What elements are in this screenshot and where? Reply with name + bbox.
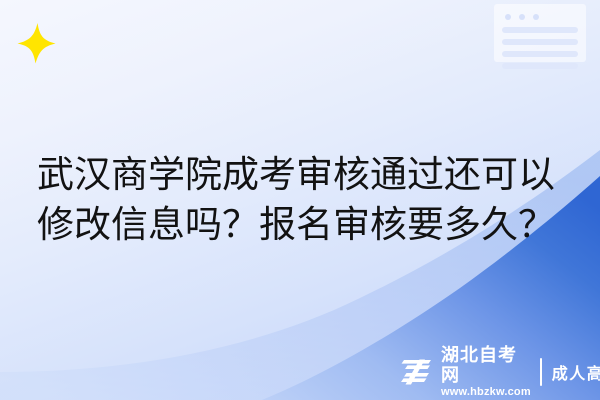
logo-site-url: www.hbzkw.com xyxy=(441,386,531,399)
doc-card-line xyxy=(502,39,578,45)
headline-line-1: 武汉商学院成考审核通过还可以 xyxy=(37,150,577,200)
page-title: 武汉商学院成考审核通过还可以 修改信息吗？报名审核要多久？ xyxy=(37,150,577,250)
doc-card-lines xyxy=(502,27,578,69)
logo-site-name: 湖北自考网 xyxy=(441,346,531,386)
headline-line-2: 修改信息吗？报名审核要多久？ xyxy=(37,200,577,250)
doc-card-line xyxy=(502,63,578,69)
promo-banner: 武汉商学院成考审核通过还可以 修改信息吗？报名审核要多久？ 湖北自考网 www.… xyxy=(0,0,600,400)
hbzkw-z-mark-icon xyxy=(400,357,434,387)
doc-card-dot xyxy=(505,14,511,20)
doc-card-line xyxy=(502,27,578,33)
doc-card-line xyxy=(502,51,578,57)
logo-category-tag: 成人高考 xyxy=(552,360,600,384)
sparkle-star-icon xyxy=(14,21,58,65)
document-card-icon xyxy=(494,4,586,62)
doc-card-dots xyxy=(505,14,539,20)
logo-divider xyxy=(540,358,542,386)
logo-text-block: 湖北自考网 www.hbzkw.com xyxy=(441,346,531,399)
doc-card-dot xyxy=(519,14,525,20)
site-logo[interactable]: 湖北自考网 www.hbzkw.com 成人高考 xyxy=(400,350,600,394)
doc-card-dot xyxy=(533,14,539,20)
